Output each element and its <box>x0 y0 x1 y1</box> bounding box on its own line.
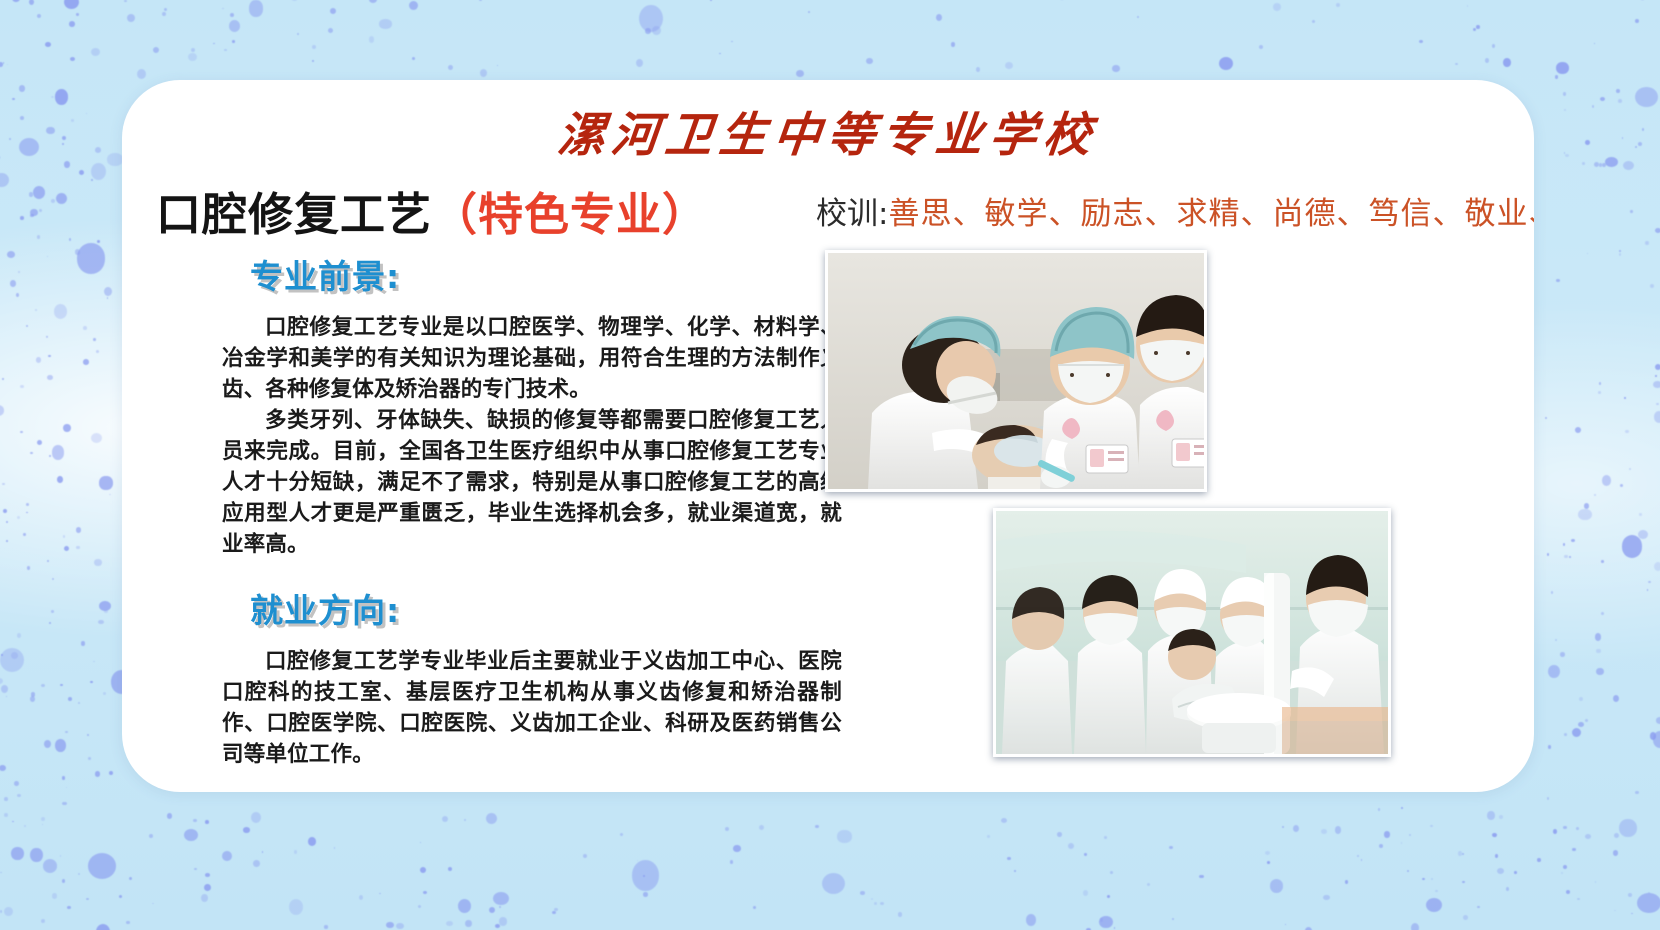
content-card: 漯河卫生中等专业学校 口腔修复工艺（特色专业） 校训:善思、敏学、励志、求精、尚… <box>122 80 1534 792</box>
program-name-text: 口腔修复工艺 <box>156 188 432 241</box>
prospects-paragraph-2: 多类牙列、牙体缺失、缺损的修复等都需要口腔修复工艺人员来完成。目前，全国各卫生医… <box>222 405 842 560</box>
program-title-row: 口腔修复工艺（特色专业） 校训:善思、敏学、励志、求精、尚德、笃信、敬业、奉献 <box>156 178 1508 240</box>
dental-lab-illustration <box>996 511 1388 754</box>
school-title: 漯河卫生中等专业学校 <box>122 96 1534 165</box>
dental-clinic-illustration <box>828 253 1204 489</box>
left-content-column: 专业前景: 口腔修复工艺专业是以口腔医学、物理学、化学、材料学、冶金学和美学的有… <box>158 250 848 770</box>
school-motto: 校训:善思、敏学、励志、求精、尚德、笃信、敬业、奉献 <box>816 188 1534 233</box>
dental-lab-practice-photo <box>993 508 1391 757</box>
motto-label: 校训: <box>816 196 888 232</box>
program-title: 口腔修复工艺（特色专业） <box>156 178 708 243</box>
prospects-paragraph-1: 口腔修复工艺专业是以口腔医学、物理学、化学、材料学、冶金学和美学的有关知识为理论… <box>222 312 842 405</box>
motto-text: 善思、敏学、励志、求精、尚德、笃信、敬业、奉献 <box>888 196 1534 232</box>
program-feature-tag: （特色专业） <box>432 188 708 241</box>
poster-page: 漯河卫生中等专业学校 口腔修复工艺（特色专业） 校训:善思、敏学、励志、求精、尚… <box>0 0 1660 930</box>
dental-clinic-treatment-photo <box>825 250 1207 492</box>
section-heading-employment: 就业方向: <box>250 584 848 632</box>
section-heading-prospects: 专业前景: <box>250 250 848 298</box>
employment-paragraph-1: 口腔修复工艺学专业毕业后主要就业于义齿加工中心、医院口腔科的技工室、基层医疗卫生… <box>222 646 842 770</box>
